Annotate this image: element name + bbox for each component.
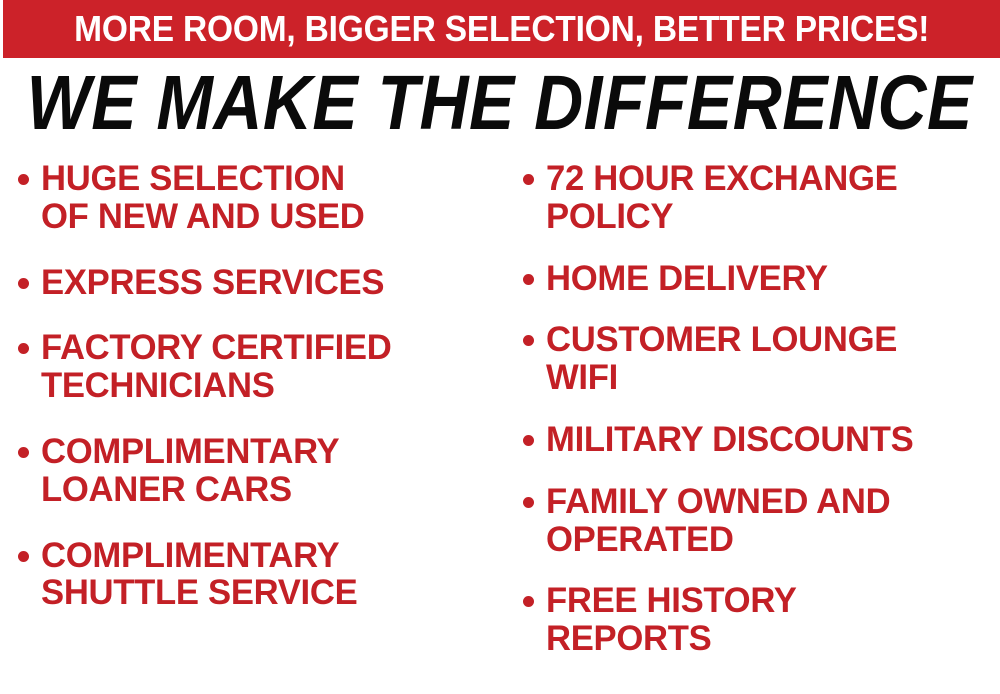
list-item-label: COMPLIMENTARY LOANER CARS <box>41 433 339 509</box>
bullet-dot-icon <box>523 596 534 607</box>
benefits-column-left: HUGE SELECTION OF NEW AND USED EXPRESS S… <box>0 160 505 694</box>
list-item: 72 HOUR EXCHANGE POLICY <box>523 160 1000 236</box>
list-item-label: FREE HISTORY REPORTS <box>546 582 797 658</box>
list-item: MILITARY DISCOUNTS <box>523 421 1000 459</box>
bullet-dot-icon <box>523 174 534 185</box>
list-item-label: CUSTOMER LOUNGE WIFI <box>546 321 897 397</box>
list-item-label: 72 HOUR EXCHANGE POLICY <box>546 160 897 236</box>
header-ribbon-text: MORE ROOM, BIGGER SELECTION, BETTER PRIC… <box>74 11 929 47</box>
list-item: FREE HISTORY REPORTS <box>523 582 1000 658</box>
list-item-label: HOME DELIVERY <box>546 260 828 298</box>
list-item: EXPRESS SERVICES <box>18 264 505 302</box>
bullet-dot-icon <box>18 174 29 185</box>
bullet-dot-icon <box>18 551 29 562</box>
bullet-dot-icon <box>18 278 29 289</box>
headline-text: WE MAKE THE DIFFERENCE <box>27 64 973 141</box>
bullet-dot-icon <box>523 335 534 346</box>
list-item-label: FAMILY OWNED AND OPERATED <box>546 483 890 559</box>
promotional-banner: MORE ROOM, BIGGER SELECTION, BETTER PRIC… <box>0 0 1000 694</box>
headline: WE MAKE THE DIFFERENCE <box>0 64 1000 134</box>
list-item: FACTORY CERTIFIED TECHNICIANS <box>18 329 505 405</box>
list-item-label: COMPLIMENTARY SHUTTLE SERVICE <box>41 537 357 613</box>
list-item-label: FACTORY CERTIFIED TECHNICIANS <box>41 329 391 405</box>
bullet-dot-icon <box>18 343 29 354</box>
list-item-label: HUGE SELECTION OF NEW AND USED <box>41 160 364 236</box>
list-item: HUGE SELECTION OF NEW AND USED <box>18 160 505 236</box>
bullet-dot-icon <box>523 497 534 508</box>
benefits-column-right: 72 HOUR EXCHANGE POLICY HOME DELIVERY CU… <box>505 160 1000 694</box>
header-ribbon: MORE ROOM, BIGGER SELECTION, BETTER PRIC… <box>3 0 1000 58</box>
list-item-label: EXPRESS SERVICES <box>41 264 384 302</box>
list-item: CUSTOMER LOUNGE WIFI <box>523 321 1000 397</box>
bullet-dot-icon <box>523 435 534 446</box>
list-item: FAMILY OWNED AND OPERATED <box>523 483 1000 559</box>
benefits-columns: HUGE SELECTION OF NEW AND USED EXPRESS S… <box>0 160 1000 694</box>
list-item-label: MILITARY DISCOUNTS <box>546 421 913 459</box>
list-item: COMPLIMENTARY SHUTTLE SERVICE <box>18 537 505 613</box>
list-item: COMPLIMENTARY LOANER CARS <box>18 433 505 509</box>
bullet-dot-icon <box>18 447 29 458</box>
bullet-dot-icon <box>523 274 534 285</box>
list-item: HOME DELIVERY <box>523 260 1000 298</box>
